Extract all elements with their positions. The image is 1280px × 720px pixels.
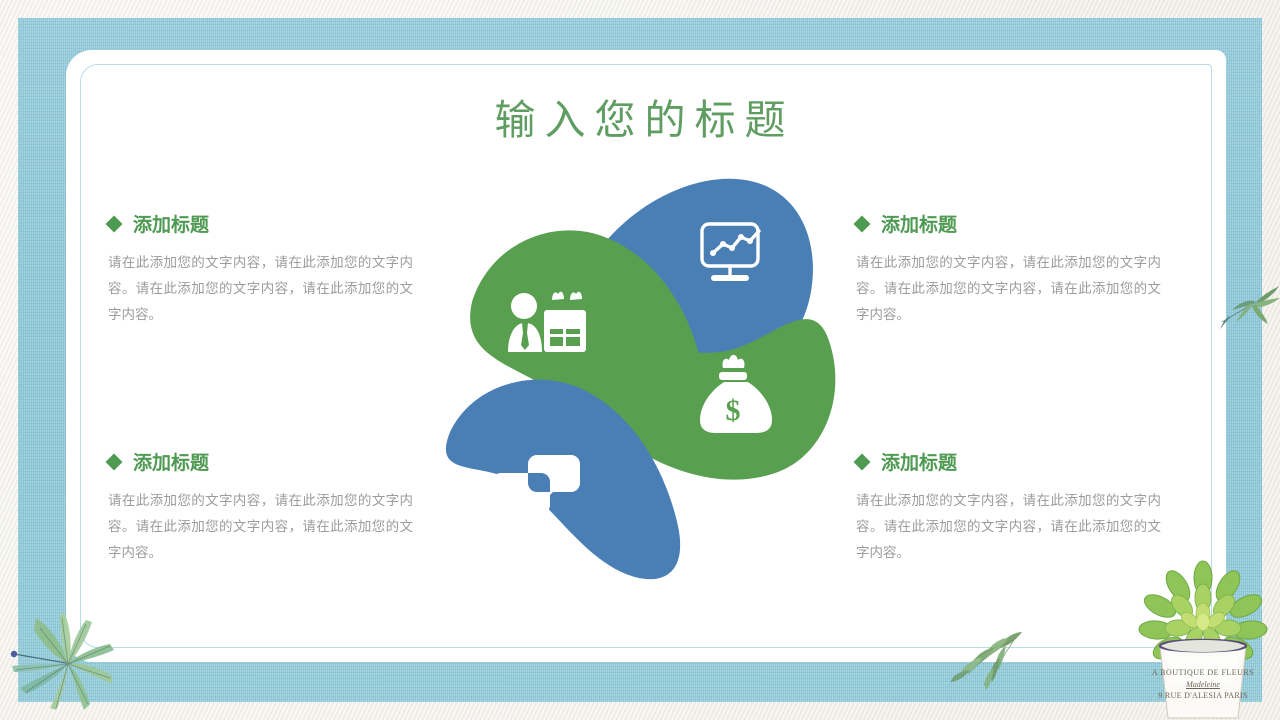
- block-heading-label: 添加标题: [881, 448, 957, 475]
- block-body-top-right: 请在此添加您的文字内容，请在此添加您的文字内容。请在此添加您的文字内容，请在此添…: [856, 250, 1161, 328]
- diamond-bullet-icon: [106, 215, 123, 232]
- diamond-bullet-icon: [854, 215, 871, 232]
- block-body-bottom-left: 请在此添加您的文字内容，请在此添加您的文字内容。请在此添加您的文字内容，请在此添…: [108, 488, 413, 566]
- text-block-top-left: 添加标题 请在此添加您的文字内容，请在此添加您的文字内容。请在此添加您的文字内容…: [108, 210, 413, 328]
- slide-content: 输入您的标题 添加标题 请在此添加您的文字内容，请在此添加您的文字内容。请在此添…: [0, 0, 1280, 720]
- block-heading-bottom-right: 添加标题: [856, 448, 1161, 475]
- text-block-bottom-left: 添加标题 请在此添加您的文字内容，请在此添加您的文字内容。请在此添加您的文字内容…: [108, 448, 413, 566]
- block-heading-label: 添加标题: [133, 210, 209, 237]
- block-heading-top-left: 添加标题: [108, 210, 413, 237]
- block-heading-label: 添加标题: [133, 448, 209, 475]
- diamond-bullet-icon: [854, 453, 871, 470]
- text-block-top-right: 添加标题 请在此添加您的文字内容，请在此添加您的文字内容。请在此添加您的文字内容…: [856, 210, 1161, 328]
- block-heading-label: 添加标题: [881, 210, 957, 237]
- block-heading-bottom-left: 添加标题: [108, 448, 413, 475]
- petal-diagram: $: [430, 170, 850, 580]
- block-body-top-left: 请在此添加您的文字内容，请在此添加您的文字内容。请在此添加您的文字内容，请在此添…: [108, 250, 413, 328]
- page-title: 输入您的标题: [0, 86, 1280, 146]
- svg-text:$: $: [726, 394, 741, 427]
- block-body-bottom-right: 请在此添加您的文字内容，请在此添加您的文字内容。请在此添加您的文字内容，请在此添…: [856, 488, 1161, 566]
- diamond-bullet-icon: [106, 453, 123, 470]
- text-block-bottom-right: 添加标题 请在此添加您的文字内容，请在此添加您的文字内容。请在此添加您的文字内容…: [856, 448, 1161, 566]
- block-heading-top-right: 添加标题: [856, 210, 1161, 237]
